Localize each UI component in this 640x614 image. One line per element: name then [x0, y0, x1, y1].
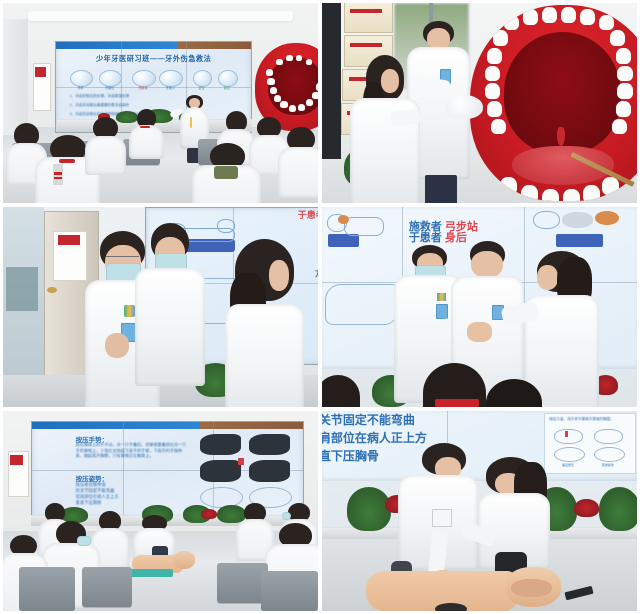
chair [217, 563, 267, 603]
photo-middle-left: 于患者 方 [3, 207, 318, 407]
plant-flower [201, 509, 217, 519]
screen-overlay-fragment: 方 [315, 270, 318, 279]
slide-bullet: 2、牙齿完全脱出最重要的是牙齿保存 [70, 103, 130, 108]
notice-red-glyph [58, 235, 80, 245]
student-girl [350, 55, 419, 203]
slide-icon-bubble [132, 70, 155, 87]
wall-column-left [3, 19, 28, 135]
wall-sign-text [350, 9, 382, 13]
uvula [557, 127, 565, 147]
instructor-woman [524, 251, 600, 407]
slide-illustration-1 [200, 434, 241, 455]
slide-icon-bubble [159, 70, 182, 87]
slide-icon-bubble [70, 70, 93, 87]
id-badge [432, 509, 452, 527]
screen-overlay-line-1: 关节固定不能弯曲 [322, 414, 415, 427]
photo-collage: 少年牙医研习班——牙外伤急救法 牙折 牙脱位 牙震荡 牙挫入 复位 固定 1、牙… [0, 0, 640, 614]
glass-reflection [6, 267, 38, 311]
screen-overlay-line-3: 直下压胸骨 [322, 450, 379, 463]
foam-tooth [445, 95, 483, 119]
student-back [280, 127, 318, 195]
photo-bottom-right: 关节固定不能弯曲 肩部位在病人正上方 直下压胸骨 按压力量，用手掌不要离开患者的… [322, 411, 637, 611]
slide-body-1: 放在胸骨上的手不动，另一只手叠扣、用掌根重叠放在另一只手的掌根上，十指交叉抬起下… [76, 442, 190, 459]
slide-illustration-4 [249, 460, 290, 481]
slide-icon-tag: 牙震荡 [132, 86, 153, 90]
foreground-student-head [322, 375, 360, 407]
student-masked-back [135, 223, 204, 383]
slide-header-bar [56, 42, 251, 49]
manikin-mat [129, 569, 173, 577]
clasped-hands [105, 333, 129, 358]
slide-title: 少年牙医研习班——牙外伤急救法 [56, 54, 251, 64]
wall-sign-text [350, 43, 382, 47]
logo-badge [124, 305, 135, 317]
plant-flower [574, 499, 599, 517]
overlay-text-blue: 于患者 [409, 232, 442, 244]
cpr-manikin-head [173, 551, 195, 569]
slide-illustration-2 [249, 434, 290, 455]
panel-label-right: 错误姿势 [592, 463, 624, 467]
slide-icon-tag: 牙折 [70, 86, 91, 90]
id-badge [436, 304, 448, 318]
slide-icon-bubble [193, 70, 213, 87]
manikin-face [511, 579, 552, 597]
dark-panel [322, 3, 341, 159]
photo-top-left: 少年牙医研习班——牙外伤急救法 牙折 牙脱位 牙震荡 牙挫入 复位 固定 1、牙… [3, 3, 318, 203]
photo-top-right [322, 3, 637, 203]
slide-icon-bubble [218, 70, 238, 87]
screen-overlay-text: 于患者 [298, 210, 318, 220]
slide-panel-right: 按压力量，用手掌不要离开患者的胸壁。 垂直按压 错误姿势 [544, 413, 636, 474]
student-back [129, 109, 164, 157]
student-back [192, 143, 261, 203]
door-knob [47, 287, 56, 293]
ceiling-recess [28, 11, 293, 21]
slide-illustration-3 [200, 460, 241, 481]
panel-note: 按压力量，用手掌不要离开患者的胸壁。 [549, 417, 630, 422]
slide-icon-tag: 牙挫入 [159, 86, 180, 90]
student-boy-compressing [398, 443, 480, 587]
slide-header-bar [32, 422, 303, 429]
manikin-neck-vent [435, 603, 467, 611]
panel-label-left: 垂直按压 [552, 463, 584, 467]
slide-icon-tag: 固定 [218, 86, 236, 90]
logo-badge [437, 293, 445, 301]
wall-sign [344, 3, 393, 33]
chair [19, 567, 76, 611]
photo-middle-right: 施救者 弓步站 于患者 身后 呼吸 脐上 [322, 207, 637, 407]
slide-body-2: 按压者双臂伸直 肘关节固定不能弯曲 双肩部位在病人正上方 垂直下压胸骨 [76, 482, 190, 506]
photo-bottom-left: 按压手势： 放在胸骨上的手不动，另一只手叠扣、用掌根重叠放在另一只手的掌根上，十… [3, 411, 318, 611]
instructor-right [224, 239, 306, 407]
chair [82, 567, 132, 607]
slide-icon-tag: 牙脱位 [99, 86, 120, 90]
face-mask [77, 536, 91, 546]
slide-icon-tag: 复位 [193, 86, 211, 90]
slide-marker [238, 458, 243, 465]
face-mask [282, 512, 291, 520]
illustration-panel-left [325, 212, 396, 268]
notice-red-glyph [10, 455, 23, 465]
illustration-hands [325, 284, 398, 325]
red-scarf [435, 399, 479, 407]
slide-icon-bubble [99, 70, 122, 87]
poster-red-mark [35, 67, 46, 77]
plant [347, 487, 391, 531]
slide-bullet: 1、牙齿折断后的处理，牙齿脱落处理 [70, 94, 130, 99]
plant [599, 487, 637, 531]
student-back [85, 117, 126, 173]
clasped-fists [467, 322, 492, 342]
chair [261, 571, 318, 611]
